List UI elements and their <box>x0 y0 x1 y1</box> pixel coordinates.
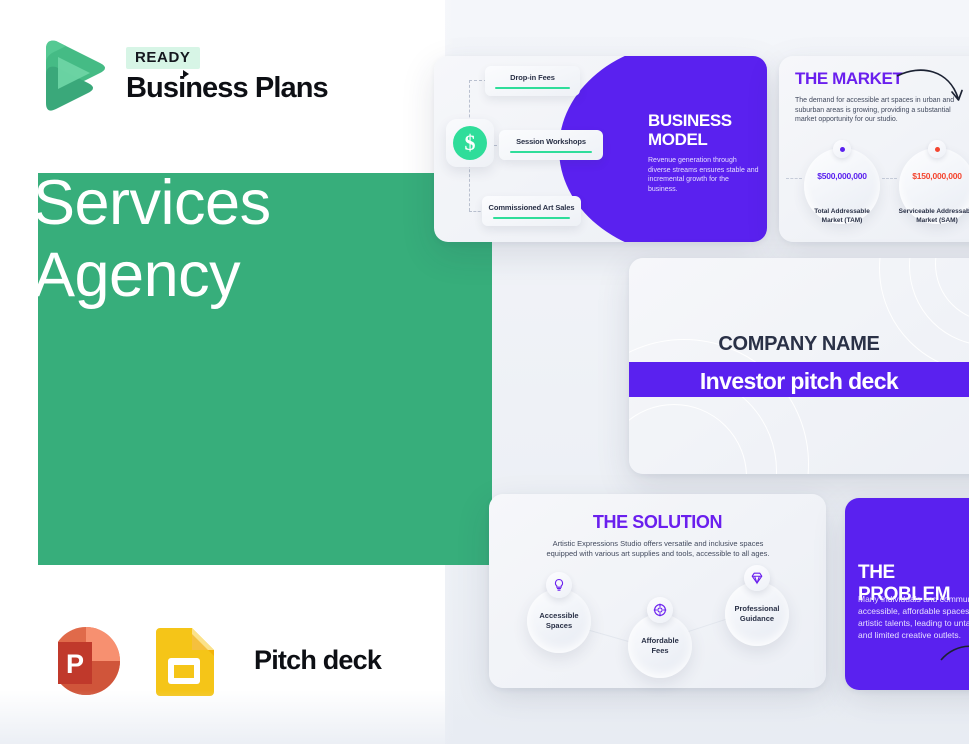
pill-underline <box>493 217 570 219</box>
market-metric-1-value: $150,000,000 <box>892 171 969 181</box>
pill-label: Commissioned Art Sales <box>489 203 575 212</box>
solution-title: THE SOLUTION <box>489 512 826 533</box>
lightbulb-icon <box>546 572 572 598</box>
market-metric-1-dot <box>928 140 946 158</box>
business-model-title: BUSINESS MODEL <box>648 111 763 149</box>
format-row: P Pitch deck <box>40 618 381 702</box>
pitch-subtitle: Investor pitch deck <box>629 368 969 395</box>
problem-description: Many individuals and communities lack ac… <box>858 593 969 641</box>
powerpoint-icon[interactable]: P <box>40 618 124 702</box>
business-model-item-2[interactable]: Commissioned Art Sales <box>482 196 581 226</box>
business-model-item-0[interactable]: Drop-in Fees <box>485 66 580 96</box>
format-label: Pitch deck <box>254 645 381 676</box>
pill-label: Drop-in Fees <box>510 73 555 82</box>
pill-label: Session Workshops <box>516 137 586 146</box>
pill-underline <box>495 87 569 89</box>
solution-pillar-0[interactable]: Accessible Spaces <box>527 589 591 653</box>
page-title: Localization Services Agency <box>33 95 360 311</box>
pill-underline <box>510 151 591 153</box>
market-metric-0-dot <box>833 140 851 158</box>
poster-canvas: READY Business Plans Localization Servic… <box>0 0 969 744</box>
market-title: THE MARKET <box>795 69 902 89</box>
market-metric-0-caption: Total Addressable Market (TAM) <box>794 208 890 225</box>
solution-pillar-1[interactable]: Affordable Fees <box>628 614 692 678</box>
google-slides-icon[interactable] <box>142 618 226 702</box>
pitch-company-name: COMPANY NAME <box>629 333 969 356</box>
market-metric-1-caption: Serviceable Addressable Market (SAM) <box>889 208 969 225</box>
svg-text:P: P <box>66 649 84 679</box>
ready-badge: READY <box>126 47 200 69</box>
market-metric-0-value: $500,000,000 <box>797 171 887 181</box>
problem-swoosh-icon <box>940 640 969 671</box>
diamond-icon <box>744 565 770 591</box>
solution-pillar-2[interactable]: Professional Guidance <box>725 582 789 646</box>
brand-play-triangle-icon <box>183 70 189 78</box>
solution-description: Artistic Expressions Studio offers versa… <box>546 539 770 559</box>
target-icon <box>647 597 673 623</box>
business-model-item-1[interactable]: Session Workshops <box>499 130 603 160</box>
dollar-icon: $ <box>453 126 487 160</box>
market-description: The demand for accessible art spaces in … <box>795 96 955 125</box>
business-model-description: Revenue generation through diverse strea… <box>648 156 760 194</box>
